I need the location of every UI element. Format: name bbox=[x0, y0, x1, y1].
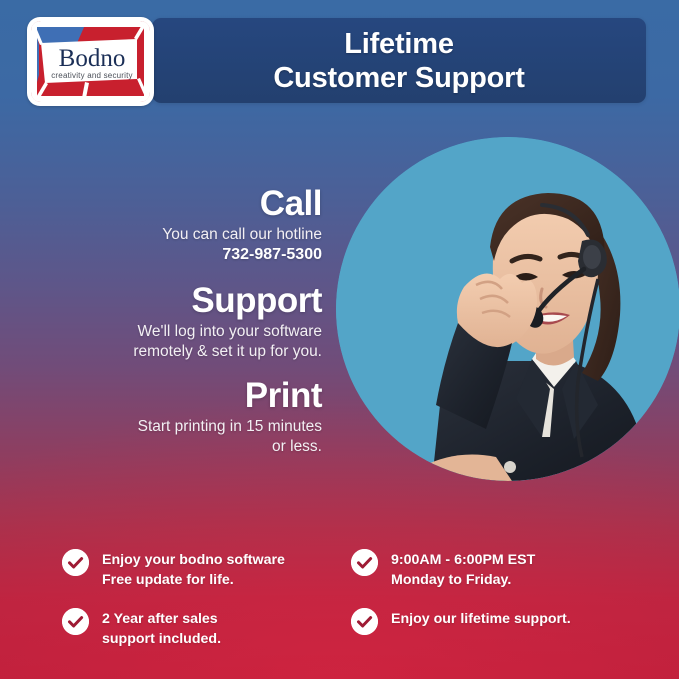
check-circle-icon bbox=[62, 608, 89, 635]
list-item-line2: Free update for life. bbox=[102, 570, 285, 590]
section-print-heading: Print bbox=[40, 378, 322, 415]
section-support-heading: Support bbox=[30, 283, 322, 320]
section-print-sub2: or less. bbox=[40, 437, 322, 457]
list-item-line2: Monday to Friday. bbox=[391, 570, 535, 590]
list-item: 2 Year after sales support included. bbox=[62, 607, 352, 649]
svg-text:creativity and security: creativity and security bbox=[51, 71, 133, 80]
section-call-sub1: You can call our hotline bbox=[60, 225, 322, 245]
list-item-line2: support included. bbox=[102, 629, 221, 649]
support-poster: Lifetime Customer Support bbox=[0, 0, 679, 679]
check-circle-icon bbox=[62, 549, 89, 576]
list-item-text: 2 Year after sales support included. bbox=[102, 607, 221, 649]
list-item-text: Enjoy our lifetime support. bbox=[391, 607, 571, 629]
header-title-line2: Customer Support bbox=[152, 61, 646, 95]
agent-photo-circle bbox=[336, 137, 679, 481]
list-item: Enjoy your bodno software Free update fo… bbox=[62, 548, 352, 590]
list-item-text: 9:00AM - 6:00PM EST Monday to Friday. bbox=[391, 548, 535, 590]
section-call-heading: Call bbox=[60, 186, 322, 223]
svg-text:Bodno: Bodno bbox=[59, 45, 126, 72]
list-item-line1: 9:00AM - 6:00PM EST bbox=[391, 552, 535, 568]
section-call-phone[interactable]: 732-987-5300 bbox=[60, 245, 322, 265]
check-circle-icon bbox=[351, 549, 378, 576]
section-call: Call You can call our hotline 732-987-53… bbox=[60, 186, 322, 265]
section-support-sub1: We'll log into your software bbox=[30, 322, 322, 342]
list-item-text: Enjoy your bodno software Free update fo… bbox=[102, 548, 285, 590]
list-item: Enjoy our lifetime support. bbox=[351, 607, 651, 634]
agent-photo bbox=[336, 137, 679, 481]
header-bar: Lifetime Customer Support bbox=[152, 18, 646, 103]
section-print-sub1: Start printing in 15 minutes bbox=[40, 417, 322, 437]
list-item: 9:00AM - 6:00PM EST Monday to Friday. bbox=[351, 548, 651, 590]
list-item-line1: 2 Year after sales bbox=[102, 611, 218, 627]
check-circle-icon bbox=[351, 608, 378, 635]
feature-list-left: Enjoy your bodno software Free update fo… bbox=[62, 548, 352, 650]
feature-list-right: 9:00AM - 6:00PM EST Monday to Friday. En… bbox=[351, 548, 651, 634]
list-item-line1: Enjoy your bodno software bbox=[102, 552, 285, 568]
page-title: Lifetime Customer Support bbox=[152, 26, 646, 94]
list-item-line1: Enjoy our lifetime support. bbox=[391, 611, 571, 627]
bodno-logo: Bodno creativity and security bbox=[27, 17, 154, 106]
section-print: Print Start printing in 15 minutes or le… bbox=[40, 378, 322, 456]
section-support: Support We'll log into your software rem… bbox=[30, 283, 322, 361]
header-title-line1: Lifetime bbox=[344, 27, 454, 59]
section-support-sub2: remotely & set it up for you. bbox=[30, 342, 322, 362]
